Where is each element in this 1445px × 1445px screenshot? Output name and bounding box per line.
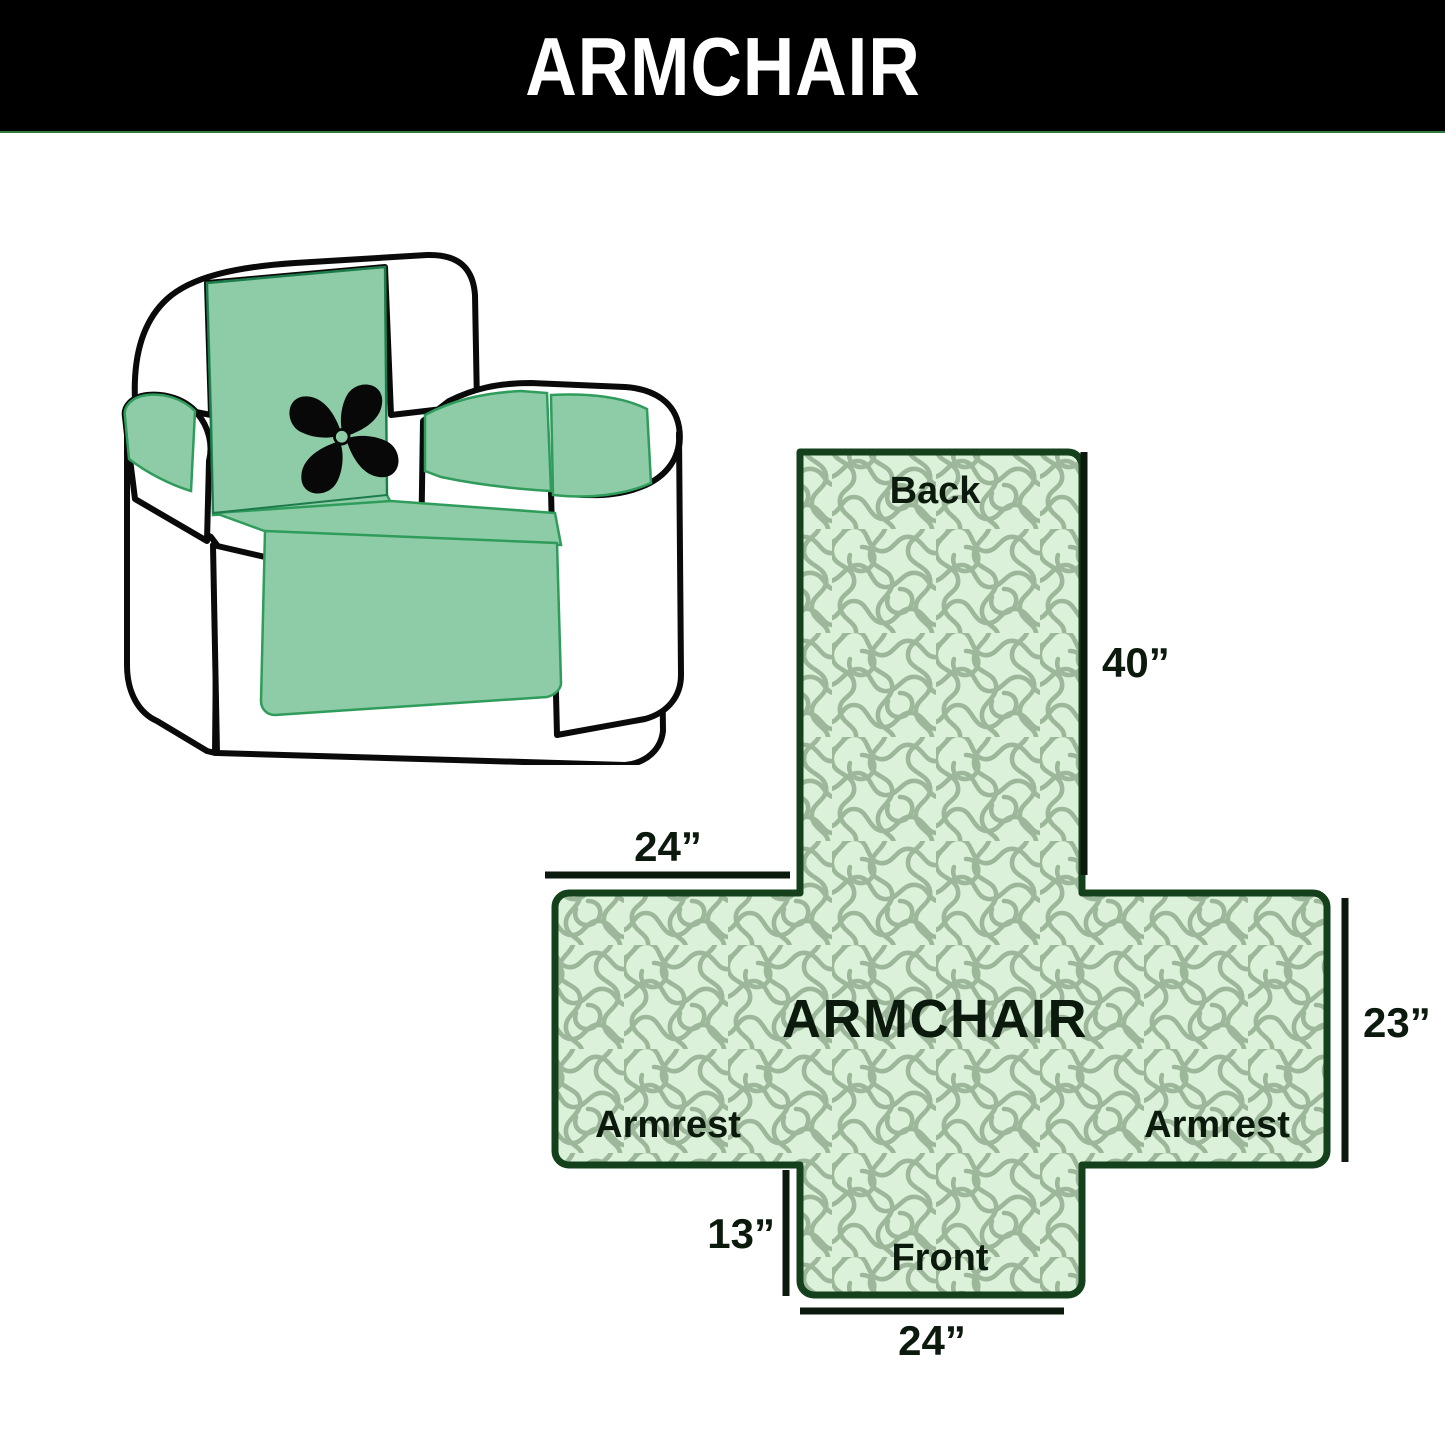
slipcover-pattern-diagram: Back Armrest Armrest Front ARMCHAIR 40” … [520, 425, 1445, 1385]
dimension-label-front-drop: 13” [707, 1210, 775, 1257]
piece-label-armrest-right: Armrest [1144, 1104, 1290, 1146]
dimension-label-back-width: 24” [634, 823, 702, 870]
dimension-label-front-width: 24” [898, 1317, 966, 1364]
header-banner: ARMCHAIR [0, 0, 1445, 133]
piece-label-front: Front [891, 1237, 988, 1279]
dimension-label-back-height: 40” [1102, 639, 1170, 686]
dimension-label-armrest-depth: 23” [1363, 999, 1431, 1046]
diagram-center-label: ARMCHAIR [782, 989, 1088, 1049]
piece-label-back: Back [890, 470, 982, 512]
piece-label-armrest-left: Armrest [595, 1104, 741, 1146]
page-title: ARMCHAIR [525, 25, 920, 108]
armchair-dimension-infographic: ARMCHAIR [0, 0, 1445, 1445]
